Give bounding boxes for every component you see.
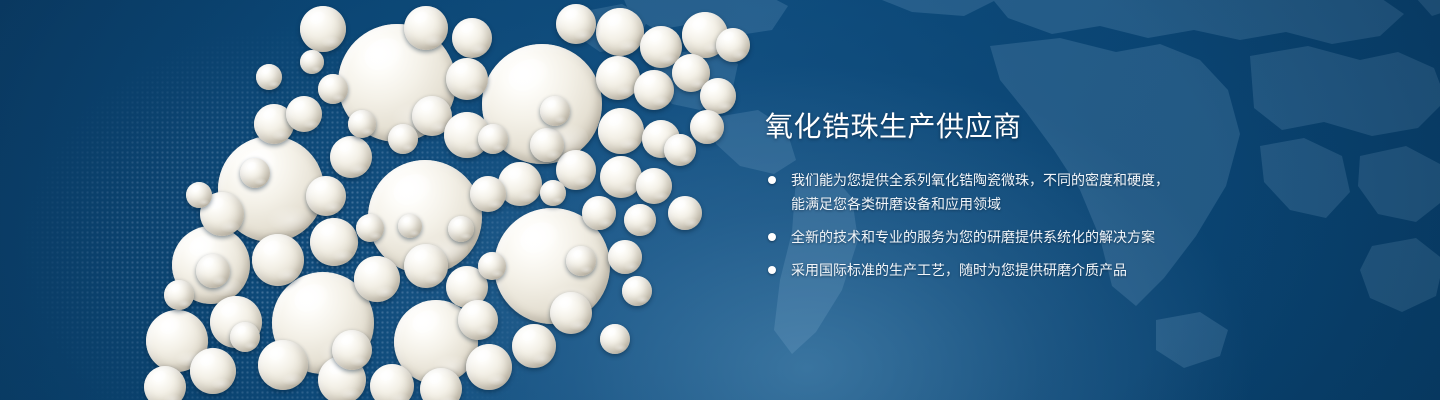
- bullet-dot-icon: [768, 266, 776, 274]
- list-item: 采用国际标准的生产工艺，随时为您提供研磨介质产品: [765, 258, 1285, 282]
- list-item: 我们能为您提供全系列氧化锆陶瓷微珠，不同的密度和硬度， 能满足您各类研磨设备和应…: [765, 168, 1285, 216]
- list-item: 全新的技术和专业的服务为您的研磨提供系统化的解决方案: [765, 225, 1285, 249]
- hero-banner: 氧化锆珠生产供应商 我们能为您提供全系列氧化锆陶瓷微珠，不同的密度和硬度， 能满…: [0, 0, 1440, 400]
- list-item-line-1: 全新的技术和专业的服务为您的研磨提供系统化的解决方案: [791, 229, 1155, 245]
- page-title: 氧化锆珠生产供应商: [765, 108, 1285, 146]
- list-item-line-2: 能满足您各类研磨设备和应用领域: [791, 192, 1285, 216]
- bullet-dot-icon: [768, 176, 776, 184]
- list-item-line-1: 我们能为您提供全系列氧化锆陶瓷微珠，不同的密度和硬度，: [791, 172, 1169, 188]
- bullet-dot-icon: [768, 233, 776, 241]
- banner-copy: 氧化锆珠生产供应商 我们能为您提供全系列氧化锆陶瓷微珠，不同的密度和硬度， 能满…: [765, 108, 1285, 282]
- list-item-line-1: 采用国际标准的生产工艺，随时为您提供研磨介质产品: [791, 262, 1127, 278]
- feature-list: 我们能为您提供全系列氧化锆陶瓷微珠，不同的密度和硬度， 能满足您各类研磨设备和应…: [765, 168, 1285, 282]
